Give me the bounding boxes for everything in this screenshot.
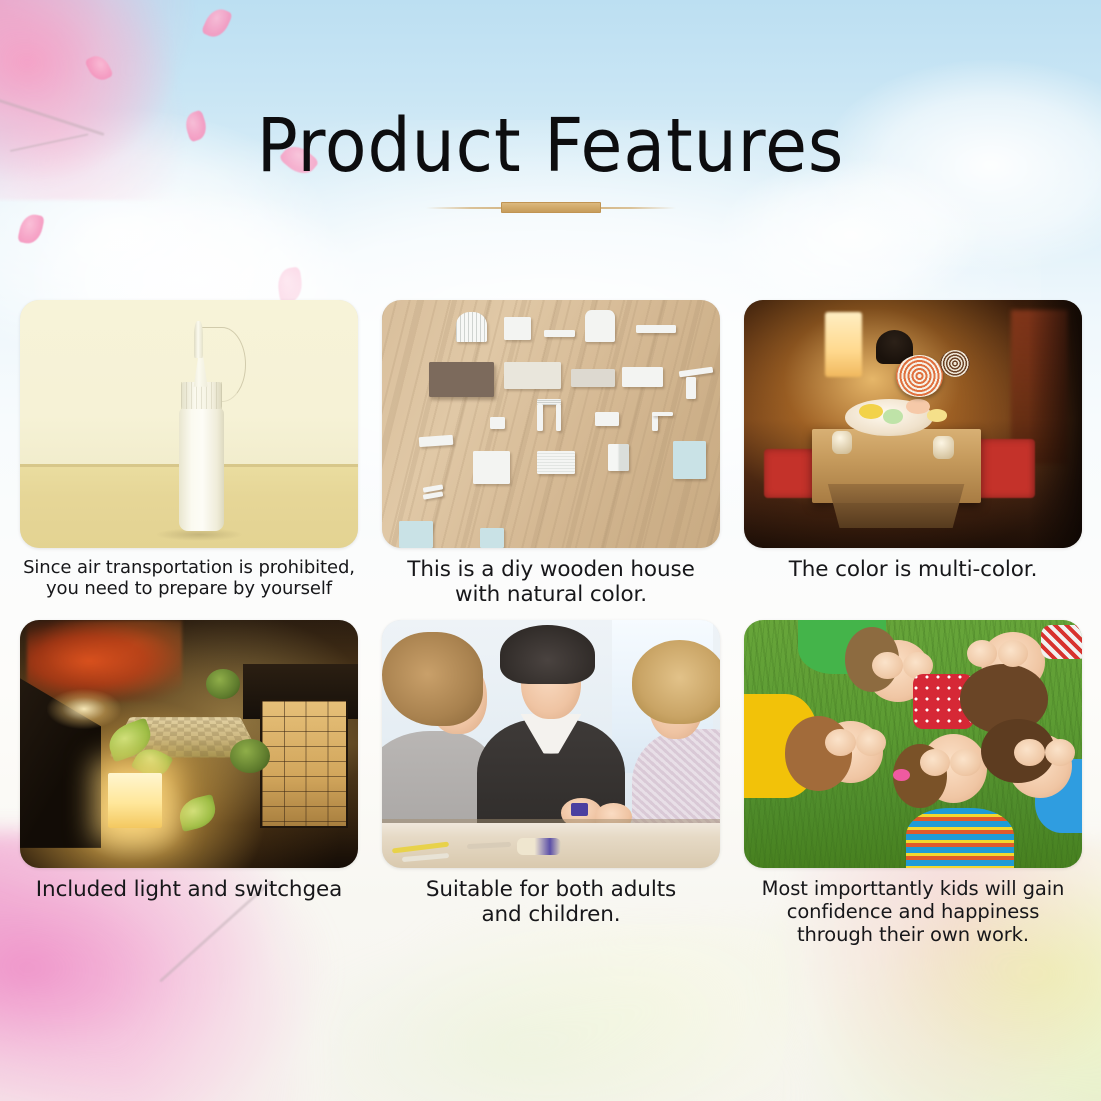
glue-bottle-scene [20,300,358,548]
food-item [906,399,930,414]
girl-hair [632,640,720,724]
lit-room-scene [744,300,1082,548]
feature-image-multi-color [744,300,1082,548]
wood-table-surface [382,300,720,548]
shadow-edge [1028,300,1082,548]
title-divider [0,200,1101,216]
feature-card-adults-children: Suitable for both adults and children. [376,620,726,946]
nozzle-tip [194,321,203,358]
feature-image-adults-children [382,620,720,868]
feature-caption-light-switch: Included light and switchgea [14,877,364,902]
part-piece [490,417,505,429]
warm-lamp [825,312,862,376]
child-hand [950,749,980,776]
caption-line: confidence and happiness [738,900,1088,923]
feature-image-glue-bottle [20,300,358,548]
part-board [571,369,615,386]
caption-line: and children. [376,902,726,927]
divider-bar [501,202,601,213]
feature-caption-confidence: Most importtantly kids will gain confide… [738,877,1088,946]
part-panel [473,451,510,483]
caption-line: This is a diy wooden house [376,557,726,582]
kids-grass-scene [744,620,1082,868]
child-blue-striped-shirt [906,808,1014,868]
part-piece [636,325,677,334]
part-board [504,362,561,389]
food-item [927,409,947,421]
lantern-light [108,773,162,828]
part-piece [504,317,531,339]
part-arched-window [456,312,486,342]
feature-image-wooden-parts [382,300,720,548]
table-legs [822,484,971,529]
child-hand [998,640,1028,667]
child-hand [825,729,855,756]
page-title: Product Features [44,108,1057,186]
product-features-page: Product Features [0,0,1101,1101]
child-hand [872,652,902,679]
part-board [622,367,663,387]
craft-piece [571,803,588,815]
part-blue-panel [480,528,504,548]
child-hand [967,640,997,667]
part-leg [556,404,561,431]
caption-line: through their own work. [738,923,1088,946]
family-scene [382,620,720,868]
caption-line: Since air transportation is prohibited, [14,557,364,578]
cup-item [933,436,953,458]
part-blue-panel [673,441,707,478]
feature-card-confidence: Most importtantly kids will gain confide… [738,620,1088,946]
father-hair [500,625,595,685]
light-glow [47,689,121,729]
feature-image-confidence [744,620,1082,868]
feature-caption-wooden-parts: This is a diy wooden house with natural … [376,557,726,608]
roll-cake [940,350,970,377]
caption-line: The color is multi-color. [738,557,1088,582]
part-piece [686,377,696,399]
feature-caption-adults-children: Suitable for both adults and children. [376,877,726,928]
child-hand [1014,739,1044,766]
food-item [859,404,883,419]
feature-caption-glue-bottle: Since air transportation is prohibited, … [14,557,364,599]
child-hand [856,729,886,756]
part-piece [544,330,574,337]
part-brown-tile [429,362,493,397]
feature-card-light-switch: Included light and switchgea [14,620,364,946]
caption-line: Most importtantly kids will gain [738,877,1088,900]
caption-line: with natural color. [376,582,726,607]
part-piece [652,412,672,416]
feature-card-glue-bottle: Since air transportation is prohibited, … [14,300,364,608]
feature-caption-multi-color: The color is multi-color. [738,557,1088,582]
part-panel [537,451,574,473]
part-gable [585,310,615,342]
wooden-parts-scene [382,300,720,548]
shoji-door [260,699,348,828]
lollipop-swirl [896,355,943,397]
feature-card-wooden-parts: This is a diy wooden house with natural … [376,300,726,608]
cup-item [832,431,852,453]
bush-shape [206,669,240,699]
part-leg [537,404,542,431]
hair-tie [893,769,910,781]
child-hand [1045,739,1075,766]
garden-scene [20,620,358,868]
marker-pen [517,838,561,855]
bottle-body [179,407,225,531]
feature-image-light-switch [20,620,358,868]
caption-line: Suitable for both adults [376,877,726,902]
part-book [608,444,628,471]
child-hand [920,749,950,776]
part-blue-panel [399,521,433,548]
food-item [883,409,903,424]
caption-line: Included light and switchgea [14,877,364,902]
feature-card-multi-color: The color is multi-color. [738,300,1088,608]
part-piece [595,412,619,427]
child-pattern-shirt [1041,625,1082,660]
feature-grid: Since air transportation is prohibited, … [14,300,1087,946]
table-edge [382,819,720,823]
caption-line: you need to prepare by yourself [14,578,364,599]
